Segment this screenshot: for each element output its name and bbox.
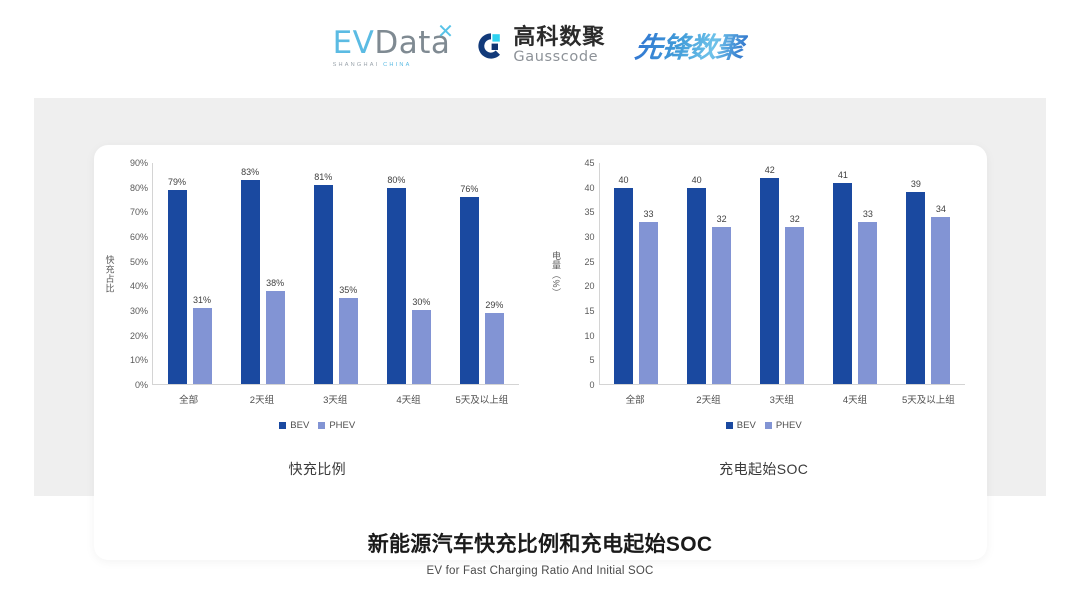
x-tick-label: 3天组 <box>745 392 818 406</box>
bar-group: 80%30% <box>372 163 445 384</box>
x-axis-labels-right: 全部2天组3天组4天组5天及以上组 <box>599 385 966 406</box>
bars-plot-right: 40334032423241333934 <box>599 163 966 385</box>
bar-groups-right: 40334032423241333934 <box>600 163 966 384</box>
bar-phev[interactable]: 30% <box>412 310 431 384</box>
legend-swatch-icon <box>279 422 286 429</box>
bar-value-label: 42 <box>765 165 775 175</box>
bar-value-label: 35% <box>339 285 357 295</box>
legend-item-bev[interactable]: BEV <box>726 420 756 431</box>
evdata-x-icon: ✕ <box>437 21 454 41</box>
evdata-city-text: SHANGHAI <box>333 62 380 68</box>
bar-group: 79%31% <box>153 163 226 384</box>
y-tick-label: 70% <box>130 207 148 217</box>
bar-value-label: 33 <box>644 209 654 219</box>
bar-phev[interactable]: 33 <box>858 222 877 384</box>
y-tick-label: 30 <box>584 232 594 242</box>
figure-caption: 新能源汽车快充比例和充电起始SOC EV for Fast Charging R… <box>0 528 1080 577</box>
content-panel: 快充占比 90%80%70%60%50%40%30%20%10%0% 79%31… <box>34 98 1046 496</box>
bar-bev[interactable]: 76% <box>460 197 479 384</box>
gausscode-mark-icon <box>476 31 506 61</box>
bar-value-label: 33 <box>863 209 873 219</box>
y-tick-label: 40% <box>130 281 148 291</box>
evdata-wordmark: EVData ✕ <box>333 28 451 59</box>
evdata-logo: EVData ✕ SHANGHAI CHINA <box>333 24 451 68</box>
bar-value-label: 40 <box>619 175 629 185</box>
bar-group: 4232 <box>746 163 819 384</box>
bar-bev[interactable]: 40 <box>687 188 706 384</box>
bar-phev[interactable]: 38% <box>266 291 285 384</box>
bar-group: 76%29% <box>445 163 518 384</box>
legend-label: PHEV <box>776 420 802 431</box>
xianfeng-logo: 先锋数聚 <box>629 26 749 66</box>
y-tick-label: 80% <box>130 183 148 193</box>
bar-bev[interactable]: 80% <box>387 188 406 384</box>
legend-item-phev[interactable]: PHEV <box>318 420 355 431</box>
y-tick-label: 10% <box>130 355 148 365</box>
legend-swatch-icon <box>765 422 772 429</box>
y-tick-label: 20 <box>584 281 594 291</box>
bar-value-label: 32 <box>717 214 727 224</box>
bar-phev[interactable]: 34 <box>931 217 950 384</box>
evdata-tagline: SHANGHAI CHINA <box>333 62 451 68</box>
bar-value-label: 41 <box>838 170 848 180</box>
legend-swatch-icon <box>318 422 325 429</box>
caption-title: 新能源汽车快充比例和充电起始SOC <box>0 528 1080 558</box>
plot-area-right: 电量（%） 454035302520151050 403340324232413… <box>549 163 966 385</box>
bar-group: 83%38% <box>226 163 299 384</box>
y-tick-label: 5 <box>589 355 594 365</box>
bar-value-label: 30% <box>412 297 430 307</box>
gausscode-logo: 高科数聚 Gausscode <box>476 26 605 65</box>
gausscode-cn-text: 高科数聚 <box>513 26 605 49</box>
evdata-country-text: CHINA <box>383 62 411 68</box>
bar-value-label: 31% <box>193 295 211 305</box>
gausscode-en-text: Gausscode <box>513 50 605 66</box>
bar-value-label: 40 <box>692 175 702 185</box>
bar-groups-left: 79%31%83%38%81%35%80%30%76%29% <box>153 163 519 384</box>
y-tick-label: 25 <box>584 257 594 267</box>
y-tick-label: 45 <box>584 158 594 168</box>
bar-group: 4032 <box>673 163 746 384</box>
chart-title-right: 充电起始SOC <box>541 459 988 479</box>
bar-bev[interactable]: 83% <box>241 180 260 384</box>
y-tick-label: 35 <box>584 207 594 217</box>
chart-initial-soc: 电量（%） 454035302520151050 403340324232413… <box>541 145 988 560</box>
bar-value-label: 81% <box>314 172 332 182</box>
legend-label: BEV <box>290 420 309 431</box>
legend-left: BEVPHEV <box>94 420 541 431</box>
legend-label: PHEV <box>329 420 355 431</box>
y-tick-label: 50% <box>130 257 148 267</box>
caption-subtitle: EV for Fast Charging Ratio And Initial S… <box>0 565 1080 577</box>
bar-value-label: 79% <box>168 177 186 187</box>
y-axis-ticks-right: 454035302520151050 <box>565 163 599 385</box>
plot-area-left: 快充占比 90%80%70%60%50%40%30%20%10%0% 79%31… <box>102 163 519 385</box>
logo-bar: EVData ✕ SHANGHAI CHINA 高科数聚 Gausscode 先… <box>0 0 1080 92</box>
bar-bev[interactable]: 41 <box>833 183 852 384</box>
legend-item-bev[interactable]: BEV <box>279 420 309 431</box>
y-tick-label: 10 <box>584 331 594 341</box>
x-tick-label: 5天及以上组 <box>445 392 518 406</box>
x-tick-label: 2天组 <box>225 392 298 406</box>
bar-value-label: 39 <box>911 179 921 189</box>
legend-swatch-icon <box>726 422 733 429</box>
chart-fast-charging-ratio: 快充占比 90%80%70%60%50%40%30%20%10%0% 79%31… <box>94 145 541 560</box>
bar-value-label: 38% <box>266 278 284 288</box>
x-tick-label: 全部 <box>152 392 225 406</box>
bar-bev[interactable]: 42 <box>760 178 779 384</box>
bar-value-label: 80% <box>387 175 405 185</box>
x-axis-labels-left: 全部2天组3天组4天组5天及以上组 <box>152 385 519 406</box>
bar-value-label: 29% <box>485 300 503 310</box>
bar-phev[interactable]: 31% <box>193 308 212 384</box>
gausscode-text-block: 高科数聚 Gausscode <box>513 26 605 65</box>
bar-bev[interactable]: 79% <box>168 190 187 384</box>
bar-phev[interactable]: 33 <box>639 222 658 384</box>
bar-value-label: 34 <box>936 204 946 214</box>
y-axis-ticks-left: 90%80%70%60%50%40%30%20%10%0% <box>118 163 152 385</box>
x-tick-label: 3天组 <box>299 392 372 406</box>
y-tick-label: 40 <box>584 183 594 193</box>
legend-right: BEVPHEV <box>541 420 988 431</box>
bar-group: 81%35% <box>299 163 372 384</box>
bar-value-label: 76% <box>460 184 478 194</box>
bar-phev[interactable]: 35% <box>339 298 358 384</box>
bars-plot-left: 79%31%83%38%81%35%80%30%76%29% <box>152 163 519 385</box>
bar-bev[interactable]: 39 <box>906 192 925 384</box>
y-tick-label: 15 <box>584 306 594 316</box>
x-tick-label: 5天及以上组 <box>892 392 965 406</box>
bar-group: 4133 <box>819 163 892 384</box>
y-tick-label: 20% <box>130 331 148 341</box>
legend-item-phev[interactable]: PHEV <box>765 420 802 431</box>
evdata-ev-text: EV <box>333 25 375 61</box>
x-tick-label: 全部 <box>599 392 672 406</box>
bar-value-label: 32 <box>790 214 800 224</box>
bar-phev[interactable]: 32 <box>712 227 731 384</box>
x-tick-label: 4天组 <box>818 392 891 406</box>
y-tick-label: 60% <box>130 232 148 242</box>
y-tick-label: 90% <box>130 158 148 168</box>
x-tick-label: 4天组 <box>372 392 445 406</box>
y-axis-title-left: 快充占比 <box>102 163 118 385</box>
y-tick-label: 0 <box>589 380 594 390</box>
bar-bev[interactable]: 81% <box>314 185 333 384</box>
bar-bev[interactable]: 40 <box>614 188 633 384</box>
y-tick-label: 0% <box>135 380 148 390</box>
bar-phev[interactable]: 29% <box>485 313 504 384</box>
bar-group: 4033 <box>600 163 673 384</box>
y-tick-label: 30% <box>130 306 148 316</box>
x-tick-label: 2天组 <box>672 392 745 406</box>
chart-title-left: 快充比例 <box>94 459 541 479</box>
bar-group: 3934 <box>892 163 965 384</box>
bar-phev[interactable]: 32 <box>785 227 804 384</box>
legend-label: BEV <box>737 420 756 431</box>
charts-card: 快充占比 90%80%70%60%50%40%30%20%10%0% 79%31… <box>94 145 987 560</box>
y-axis-title-right: 电量（%） <box>549 163 565 385</box>
bar-value-label: 83% <box>241 167 259 177</box>
